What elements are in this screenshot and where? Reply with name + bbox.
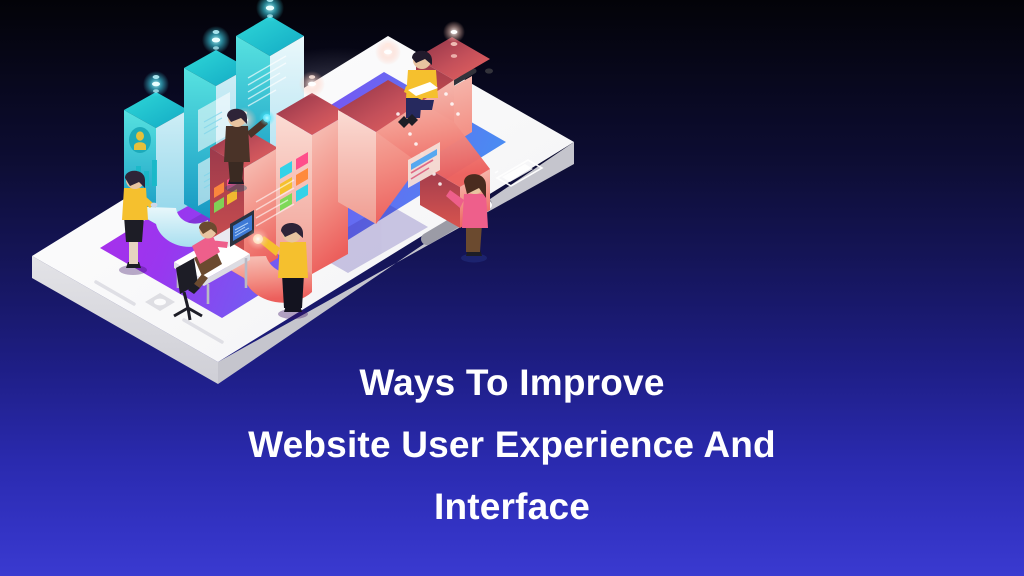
poster-canvas: Ways To Improve Website User Experience … xyxy=(0,0,1024,576)
front-camera-icon xyxy=(485,68,493,73)
page-title: Ways To Improve Website User Experience … xyxy=(0,352,1024,538)
headline-line-1: Ways To Improve xyxy=(0,352,1024,414)
avatar-card-panel xyxy=(129,127,151,153)
ui-u-left-side xyxy=(156,110,188,224)
headline-line-3: Interface xyxy=(0,476,1024,538)
headline-line-2: Website User Experience And xyxy=(0,414,1024,476)
